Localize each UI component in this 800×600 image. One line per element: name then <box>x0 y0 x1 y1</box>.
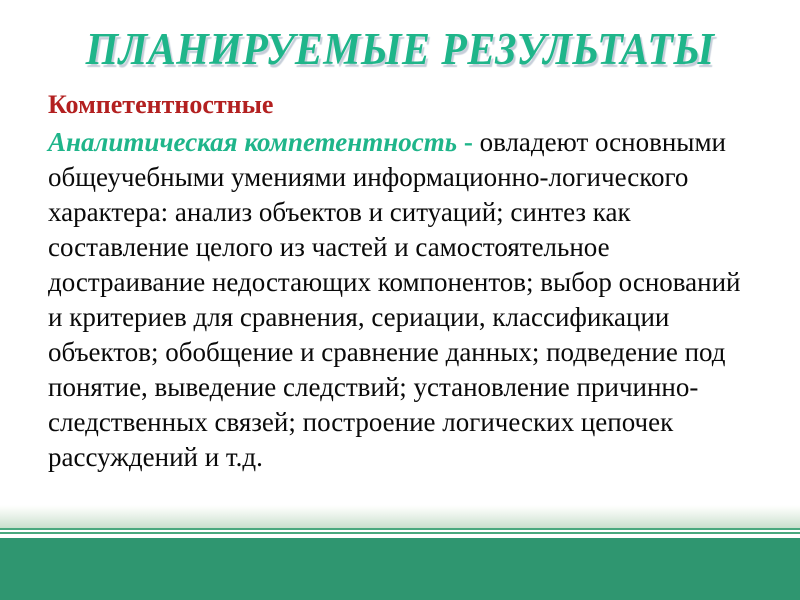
lead-term: Аналитическая компетентность <box>48 127 457 157</box>
deco-solid-block <box>0 538 800 600</box>
deco-gradient-band <box>0 505 800 528</box>
slide-canvas: ПЛАНИРУЕМЫЕ РЕЗУЛЬТАТЫ Компетентностные … <box>0 0 800 600</box>
slide-title-area: ПЛАНИРУЕМЫЕ РЕЗУЛЬТАТЫ <box>0 26 800 73</box>
body-text: овладеют основными общеучебными умениями… <box>48 127 741 472</box>
body-paragraph: Аналитическая компетентность - овладеют … <box>48 125 760 475</box>
page-title: ПЛАНИРУЕМЫЕ РЕЗУЛЬТАТЫ <box>86 26 715 73</box>
bottom-decoration <box>0 505 800 600</box>
slide-body: Компетентностные Аналитическая компетент… <box>48 88 760 475</box>
subheading: Компетентностные <box>48 88 760 122</box>
lead-dash: - <box>457 127 480 157</box>
